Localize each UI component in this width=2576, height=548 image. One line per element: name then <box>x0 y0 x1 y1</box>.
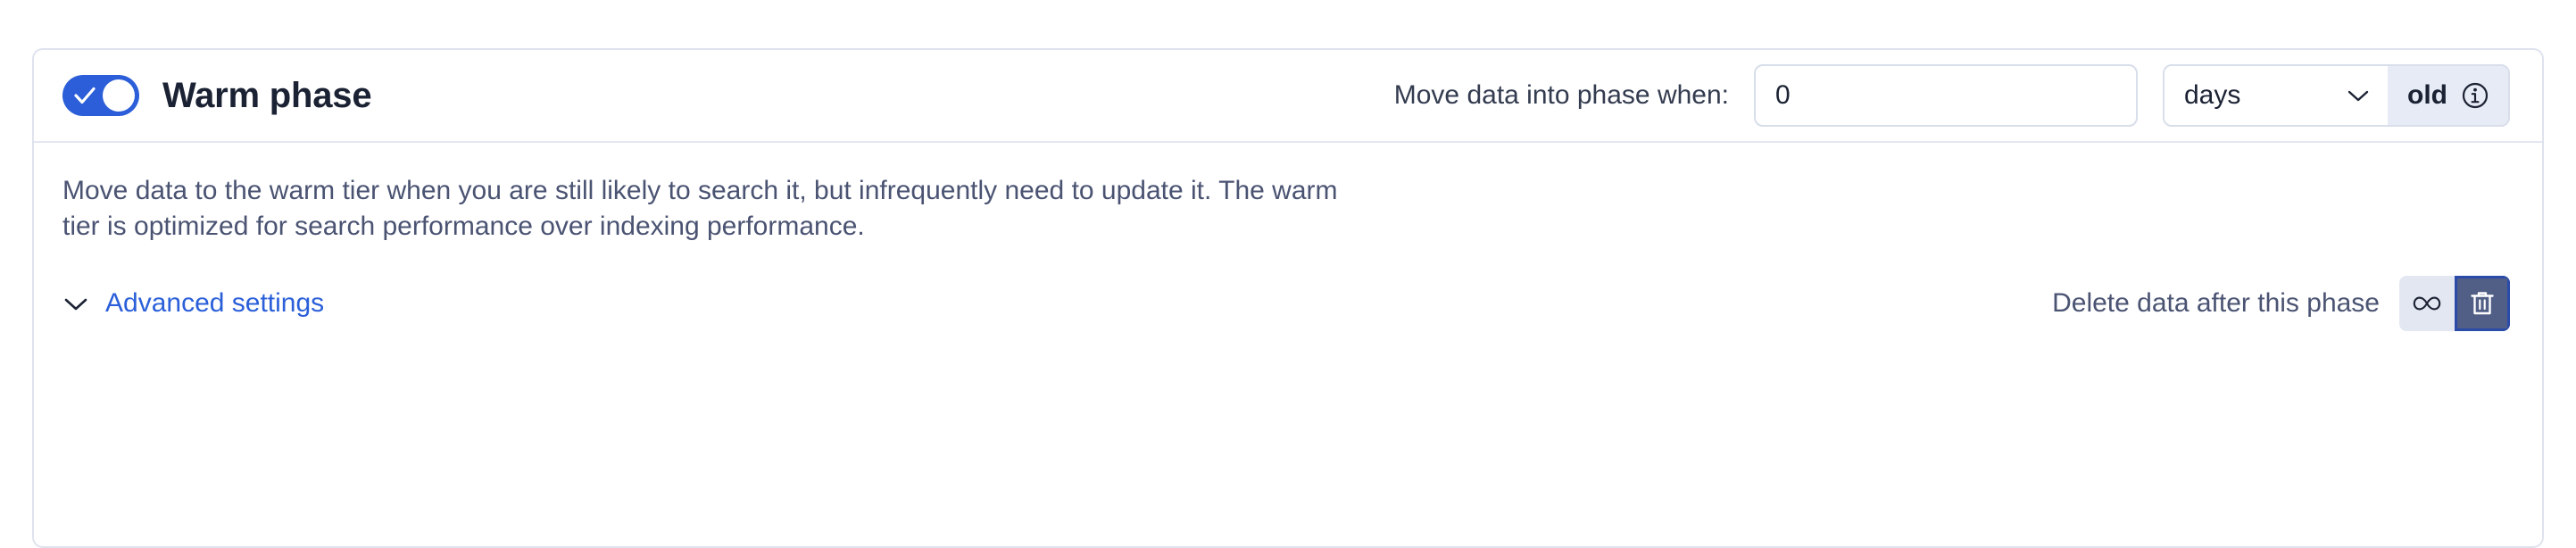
phase-header: Warm phase Move data into phase when: 0 … <box>34 50 2542 143</box>
toggle-knob <box>103 79 135 112</box>
trash-icon <box>2469 289 2496 318</box>
phase-body: Move data to the warm tier when you are … <box>34 143 2542 331</box>
delete-data-button[interactable] <box>2455 276 2510 331</box>
min-age-unit-group: days old <box>2163 64 2510 127</box>
advanced-settings-label: Advanced settings <box>105 288 324 319</box>
advanced-settings-toggle[interactable]: Advanced settings <box>62 288 324 319</box>
info-circle-icon[interactable] <box>2462 82 2489 109</box>
phase-footer: Advanced settings Delete data after this… <box>62 276 2510 331</box>
phase-description: Move data to the warm tier when you are … <box>62 173 1357 244</box>
chevron-down-icon <box>2347 88 2370 103</box>
min-age-input[interactable]: 0 <box>1754 64 2138 127</box>
min-age-unit-value: days <box>2184 80 2240 111</box>
check-icon <box>74 86 96 105</box>
infinity-icon <box>2412 295 2442 311</box>
move-data-label: Move data into phase when: <box>1394 80 1729 111</box>
warm-phase-card: Warm phase Move data into phase when: 0 … <box>32 48 2544 548</box>
min-age-unit-select[interactable]: days <box>2165 66 2388 125</box>
delete-phase-controls: Delete data after this phase <box>2052 276 2510 331</box>
phase-header-left: Warm phase <box>62 75 371 116</box>
phase-timing-controls: Move data into phase when: 0 days old <box>1394 64 2510 127</box>
delete-data-button-group <box>2399 276 2510 331</box>
chevron-down-icon <box>62 295 89 311</box>
min-age-unit-append: old <box>2388 66 2508 125</box>
keep-forever-button[interactable] <box>2399 276 2455 331</box>
min-age-append-label: old <box>2407 80 2447 111</box>
warm-phase-enable-toggle[interactable] <box>62 75 139 116</box>
page-title: Warm phase <box>162 76 371 116</box>
delete-data-label: Delete data after this phase <box>2052 288 2380 319</box>
